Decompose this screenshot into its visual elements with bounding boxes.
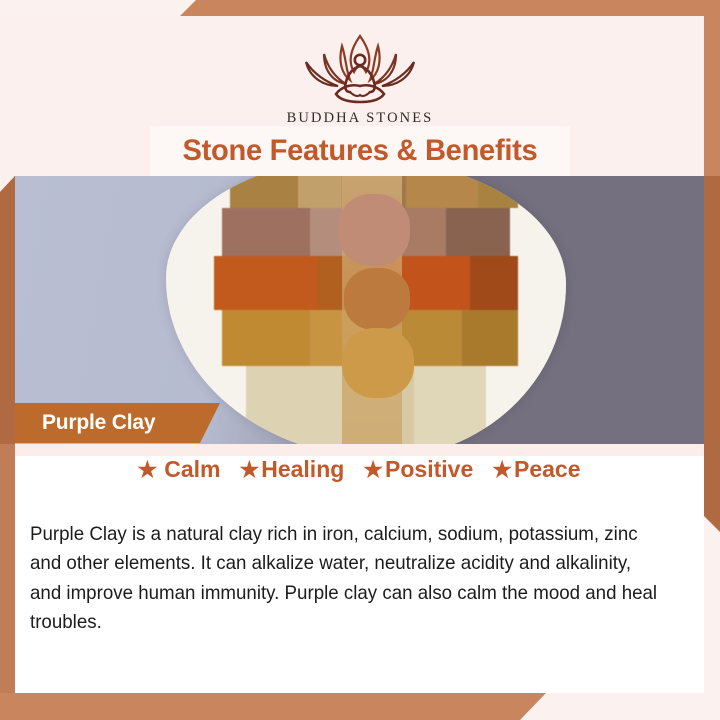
brand-name: BUDDHA STONES xyxy=(0,110,720,127)
star-icon: ★ xyxy=(492,459,512,481)
clay-powder-dish xyxy=(166,176,566,444)
benefit-label: Healing xyxy=(261,456,344,483)
content-top-band xyxy=(14,444,704,456)
right-copper-bar-upper xyxy=(704,0,720,176)
benefit-label: Positive xyxy=(385,456,473,483)
photo-caption-label: Purple Clay xyxy=(14,411,155,435)
left-copper-bar-photo xyxy=(0,176,15,444)
clay-sample-blob-3 xyxy=(342,328,414,398)
star-icon: ★ xyxy=(363,459,383,481)
benefit-item-positive: ★ Positive xyxy=(363,456,473,483)
benefit-item-calm: ★ Calm xyxy=(138,456,221,483)
benefits-row: ★ Calm ★ Healing ★ Positive ★ Peace xyxy=(14,456,704,483)
infographic-page: BUDDHA STONES Stone Features & Benefits … xyxy=(0,0,720,720)
benefit-item-healing: ★ Healing xyxy=(239,456,344,483)
clay-sample-blob-1 xyxy=(338,194,410,266)
photo-caption-ribbon: Purple Clay xyxy=(14,403,220,443)
title-panel: Stone Features & Benefits xyxy=(150,126,570,176)
clay-sample-blob-2 xyxy=(344,268,410,330)
benefit-label: Peace xyxy=(514,456,581,483)
description-paragraph: Purple Clay is a natural clay rich in ir… xyxy=(30,520,660,638)
star-icon: ★ xyxy=(138,459,158,481)
star-icon: ★ xyxy=(239,459,259,481)
benefit-item-peace: ★ Peace xyxy=(492,456,580,483)
page-title: Stone Features & Benefits xyxy=(183,134,538,168)
content-card: ★ Calm ★ Healing ★ Positive ★ Peace Purp… xyxy=(14,444,704,693)
benefit-label: Calm xyxy=(164,456,220,483)
lotus-meditation-logo-icon xyxy=(284,30,436,108)
bottom-copper-bar xyxy=(0,693,720,720)
brand-logo: BUDDHA STONES xyxy=(0,30,720,127)
top-copper-bar xyxy=(0,0,720,16)
